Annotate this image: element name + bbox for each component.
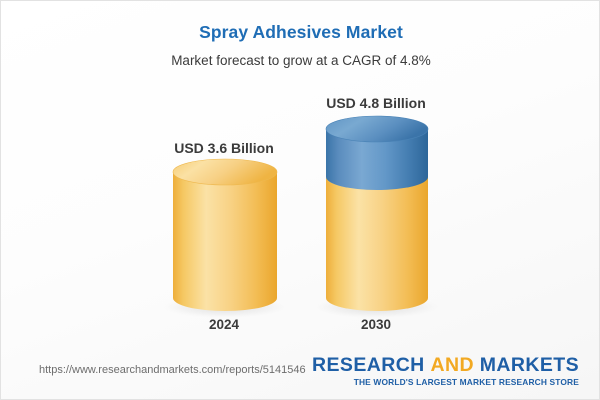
chart-canvas: [1, 1, 600, 400]
report-url[interactable]: https://www.researchandmarkets.com/repor…: [39, 364, 306, 376]
logo-tagline: THE WORLD'S LARGEST MARKET RESEARCH STOR…: [312, 377, 579, 387]
bar-top-cap: [173, 159, 277, 185]
bar-2030[interactable]: [315, 116, 439, 318]
bar-value-label-2030: USD 4.8 Billion: [276, 95, 476, 111]
research-and-markets-logo[interactable]: RESEARCH AND MARKETS THE WORLD'S LARGEST…: [312, 355, 579, 387]
logo-word-markets: MARKETS: [480, 354, 579, 376]
footer: https://www.researchandmarkets.com/repor…: [1, 347, 600, 399]
logo-word-research: RESEARCH: [312, 354, 425, 376]
bar-body-base: [326, 177, 428, 311]
bar-top-cap: [326, 116, 428, 142]
logo-word-and: AND: [431, 354, 474, 376]
bar-category-label-2030: 2030: [276, 317, 476, 332]
infographic-card: Spray Adhesives Market Market forecast t…: [0, 0, 600, 400]
bar-value-label-2024: USD 3.6 Billion: [124, 140, 324, 156]
logo-wordmark: RESEARCH AND MARKETS: [312, 355, 579, 375]
bar-chart: USD 3.6 Billion USD 4.8 Billion 2024 203…: [1, 1, 600, 400]
bar-body-base: [173, 172, 277, 311]
bar-2024[interactable]: [163, 159, 287, 318]
